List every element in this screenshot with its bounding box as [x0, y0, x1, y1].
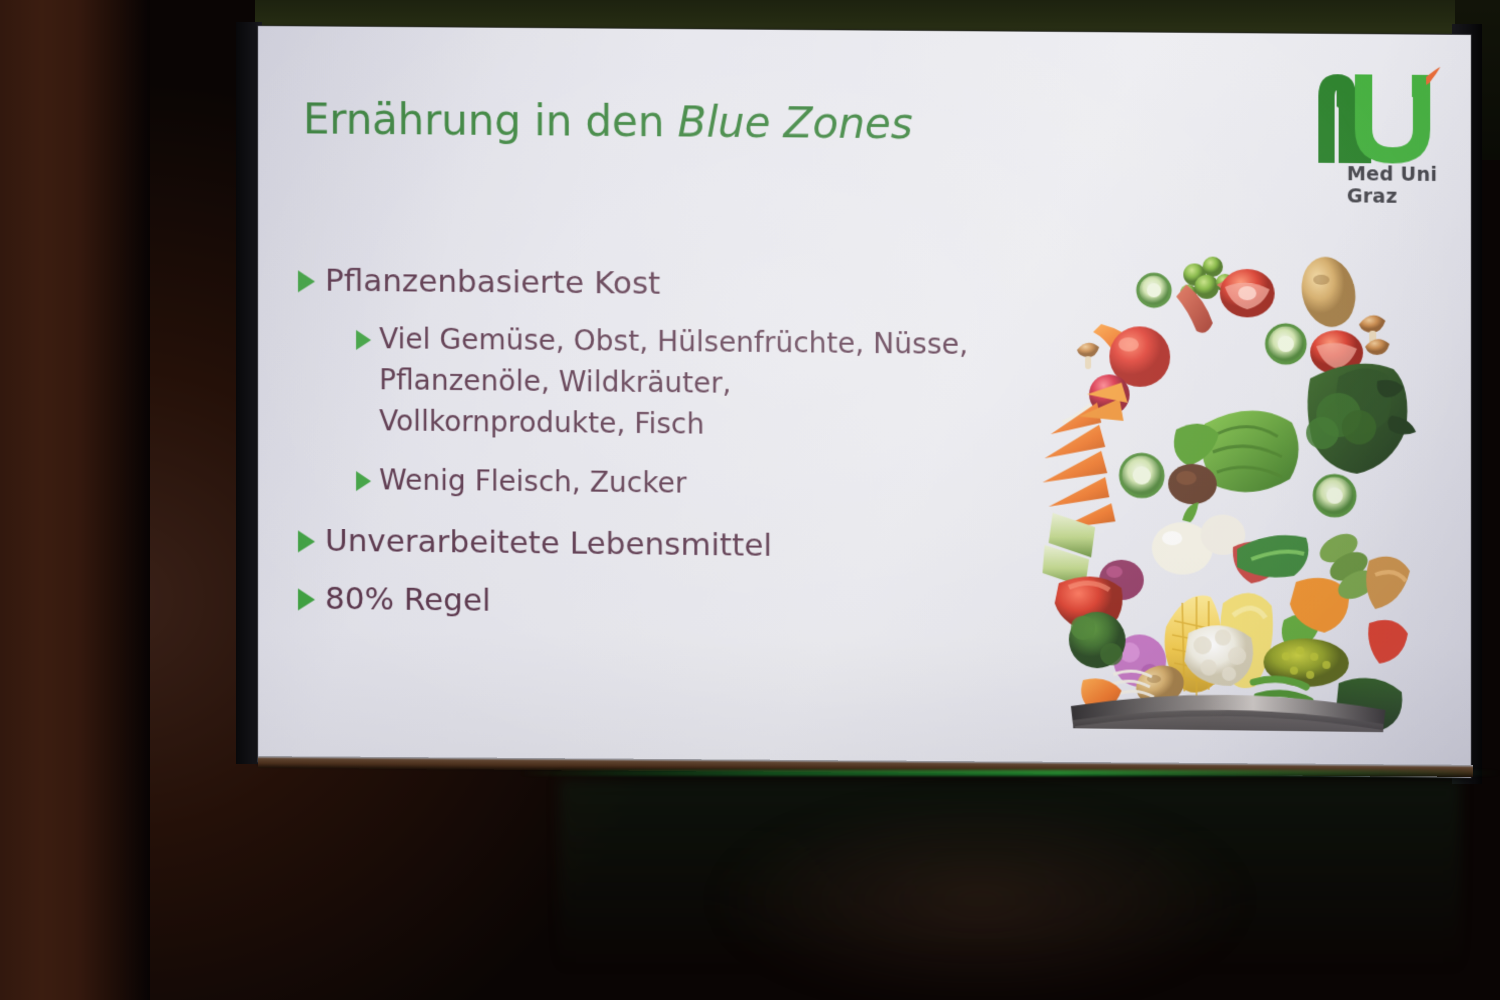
bullet-text: Wenig Fleisch, Zucker	[379, 460, 686, 504]
med-uni-graz-logo: Med Uni Graz	[1308, 66, 1442, 218]
triangle-bullet-icon	[356, 471, 371, 491]
slide-title-prefix: Ernährung in den	[303, 94, 678, 146]
bullet-text: 80% Regel	[325, 576, 491, 622]
stage-shadow	[720, 800, 1240, 1000]
bullet-item: Pflanzenbasierte Kost	[298, 258, 1043, 309]
bullet-text: Unverarbeitete Lebensmittel	[325, 518, 772, 567]
bullet-line: Viel Gemüse, Obst, Hülsenfrüchte, Nüsse,	[379, 319, 968, 366]
bullet-line: Unverarbeitete Lebensmittel	[325, 518, 772, 567]
bullet-item: Unverarbeitete Lebensmittel	[298, 518, 1043, 571]
bullet-list: Pflanzenbasierte Kost Viel Gemüse, Obst,…	[298, 258, 1043, 635]
slide: Ernährung in den Blue Zones Pflanzenbasi…	[258, 26, 1471, 778]
slide-title: Ernährung in den Blue Zones	[303, 94, 913, 148]
projection-screen: Ernährung in den Blue Zones Pflanzenbasi…	[258, 26, 1471, 778]
mu-monogram-icon	[1314, 66, 1442, 164]
bullet-text: Pflanzenbasierte Kost	[325, 259, 660, 306]
bullet-line: Pflanzenbasierte Kost	[325, 259, 660, 306]
triangle-bullet-icon	[298, 530, 315, 552]
bullet-text: Viel Gemüse, Obst, Hülsenfrüchte, Nüsse,…	[379, 319, 968, 448]
bullet-line: Wenig Fleisch, Zucker	[379, 460, 686, 504]
bullet-line: 80% Regel	[325, 576, 491, 622]
slide-title-emphasis: Blue Zones	[678, 97, 913, 148]
bullet-line: Vollkornprodukte, Fisch	[379, 401, 968, 448]
bullet-item: 80% Regel	[298, 576, 1043, 629]
bullet-line: Pflanzenöle, Wildkräuter,	[379, 360, 968, 407]
logo-wordmark: Med Uni Graz	[1347, 163, 1437, 209]
triangle-bullet-icon	[298, 588, 315, 610]
bullet-item: Wenig Fleisch, Zucker	[298, 459, 1043, 508]
triangle-bullet-icon	[298, 270, 315, 292]
stage-light-line	[520, 770, 1500, 776]
logo-line-1: Med Uni	[1347, 163, 1437, 186]
bullet-item: Viel Gemüse, Obst, Hülsenfrüchte, Nüsse,…	[298, 318, 1043, 448]
triangle-bullet-icon	[356, 330, 371, 350]
vegetable-collage-image	[1034, 225, 1422, 733]
logo-line-2: Graz	[1347, 186, 1437, 209]
photo-frame: Ernährung in den Blue Zones Pflanzenbasi…	[0, 0, 1500, 1000]
left-curtain	[0, 0, 150, 1000]
